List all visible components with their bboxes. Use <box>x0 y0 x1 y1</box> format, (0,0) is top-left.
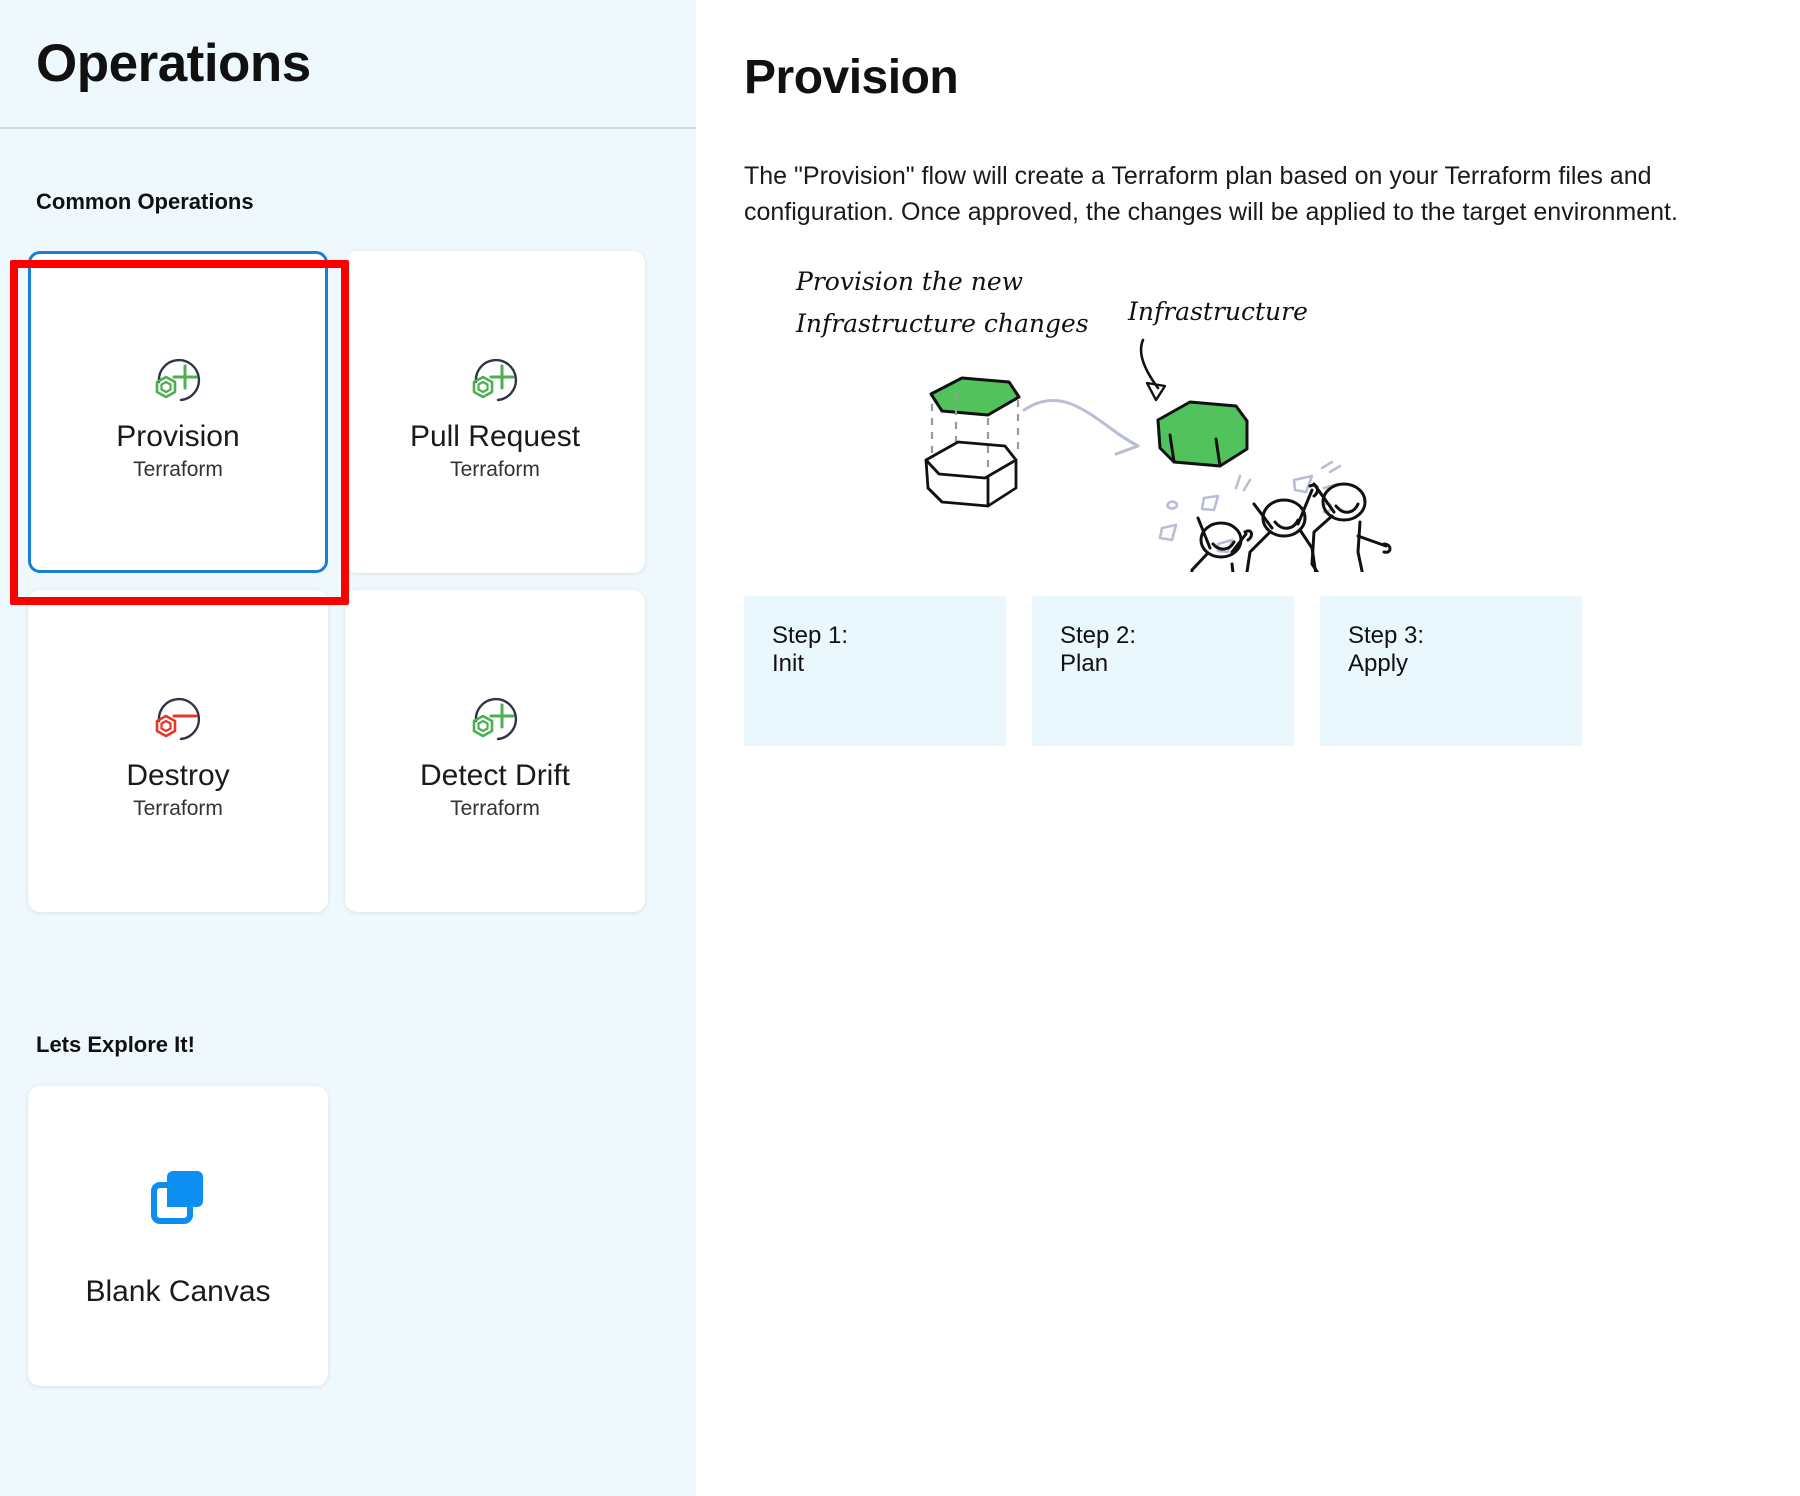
illustration-caption-left-line2: Infrastructure changes <box>795 309 1089 338</box>
section-header-common-operations: Common Operations <box>0 189 696 215</box>
plus-hexagon-icon <box>458 681 532 755</box>
operation-card-title: Provision <box>116 420 239 455</box>
steps-row: Step 1: Init Step 2: Plan Step 3: Apply <box>744 596 1760 746</box>
step-value: Plan <box>1060 650 1294 678</box>
operation-card-title: Detect Drift <box>420 759 570 794</box>
operation-card-detect-drift[interactable]: Detect Drift Terraform <box>345 590 645 912</box>
operation-card-title: Destroy <box>126 759 229 794</box>
explore-grid: Blank Canvas <box>28 1086 328 1386</box>
step-value: Init <box>772 650 1006 678</box>
operation-card-title: Pull Request <box>410 420 580 455</box>
page-title: Operations <box>36 33 311 94</box>
operation-card-subtitle: Terraform <box>450 797 540 821</box>
operation-card-provision[interactable]: Provision Terraform <box>28 251 328 573</box>
step-label: Step 3: <box>1348 622 1582 650</box>
operations-sidebar: Operations Common Operations Provision T… <box>0 0 696 1496</box>
common-operations-grid: Provision Terraform Pull Request Terrafo… <box>0 251 660 912</box>
illustration-caption-right: Infrastructure <box>1127 297 1308 326</box>
plus-hexagon-icon <box>458 342 532 416</box>
stacked-squares-icon <box>143 1163 213 1233</box>
plus-hexagon-icon <box>141 342 215 416</box>
step-label: Step 1: <box>772 622 1006 650</box>
operation-card-blank-canvas[interactable]: Blank Canvas <box>28 1086 328 1386</box>
app-root: Operations Common Operations Provision T… <box>0 0 1800 1496</box>
step-box-1: Step 1: Init <box>744 596 1006 746</box>
operation-card-destroy[interactable]: Destroy Terraform <box>28 590 328 912</box>
detail-title: Provision <box>744 50 1760 105</box>
operation-card-title: Blank Canvas <box>85 1275 270 1309</box>
provision-flow-illustration: Provision the new Infrastructure changes… <box>766 252 1426 572</box>
detail-description: The "Provision" flow will create a Terra… <box>744 159 1760 230</box>
sidebar-header: Operations <box>0 0 696 129</box>
operation-card-subtitle: Terraform <box>133 797 223 821</box>
illustration-caption-left-line1: Provision the new <box>795 267 1023 296</box>
section-header-lets-explore-it: Lets Explore It! <box>0 1032 195 1058</box>
step-label: Step 2: <box>1060 622 1294 650</box>
operation-card-subtitle: Terraform <box>133 458 223 482</box>
operation-card-subtitle: Terraform <box>450 458 540 482</box>
minus-hexagon-icon <box>141 681 215 755</box>
step-value: Apply <box>1348 650 1582 678</box>
operation-card-pull-request[interactable]: Pull Request Terraform <box>345 251 645 573</box>
detail-panel: Provision The "Provision" flow will crea… <box>696 0 1800 1496</box>
step-box-2: Step 2: Plan <box>1032 596 1294 746</box>
step-box-3: Step 3: Apply <box>1320 596 1582 746</box>
